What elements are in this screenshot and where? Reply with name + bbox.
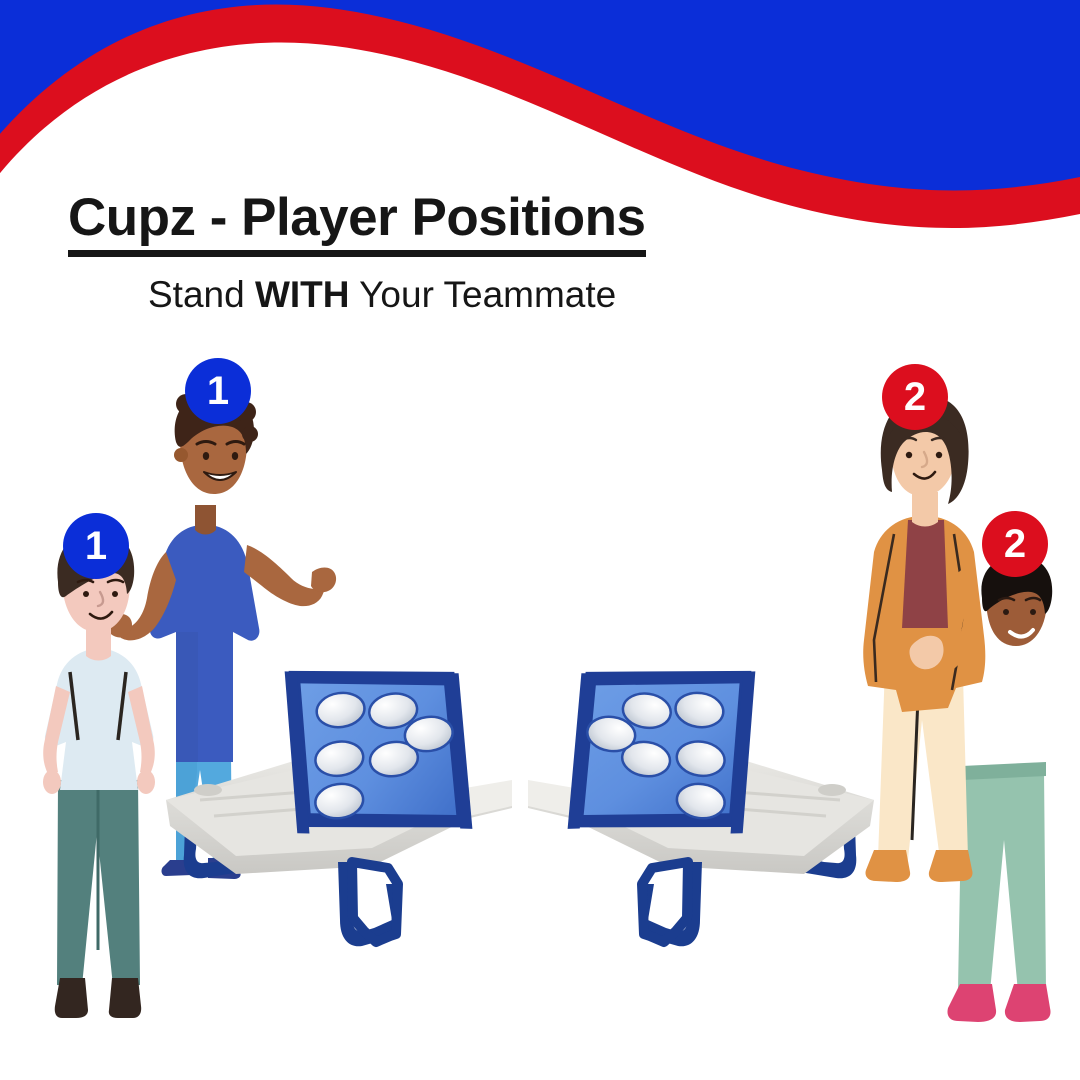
adult-right-shoe-r — [929, 850, 973, 882]
adult-right-top — [902, 520, 948, 628]
badge-label: 2 — [1004, 524, 1026, 564]
badge-team-2-child: 2 — [982, 511, 1048, 577]
child-right-shoe-l — [947, 984, 996, 1022]
adult-right-neck — [912, 492, 938, 527]
child-right-eye-l — [1003, 609, 1009, 615]
subtitle-prefix: Stand — [148, 274, 255, 315]
adult-right-shoe-l — [865, 850, 910, 882]
badge-team-1-child: 1 — [63, 513, 129, 579]
badge-team-2-adult: 2 — [882, 364, 948, 430]
cupz-board-right — [560, 647, 766, 853]
badge-label: 1 — [207, 371, 229, 411]
child-right-shoe-r — [1005, 984, 1051, 1022]
page-subtitle: Stand WITH Your Teammate — [0, 275, 1080, 316]
title-block: Cupz - Player Positions Stand WITH Your … — [0, 190, 1080, 315]
page-title-text: Cupz - Player Positions — [68, 190, 646, 257]
page-title: Cupz - Player Positions — [0, 190, 1080, 257]
table-right-top-notch — [818, 784, 846, 796]
cupz-table-right — [528, 647, 874, 946]
badge-label: 2 — [904, 377, 926, 417]
subtitle-suffix: Your Teammate — [350, 274, 617, 315]
adult-right-eye-r — [936, 452, 942, 458]
poster-canvas: Cupz - Player Positions Stand WITH Your … — [0, 0, 1080, 1080]
adult-right-eye-l — [906, 452, 912, 458]
badge-label: 1 — [85, 526, 107, 566]
child-right-pants — [958, 770, 1046, 992]
subtitle-emphasis: WITH — [255, 274, 350, 315]
badge-team-1-adult: 1 — [185, 358, 251, 424]
child-right-eye-r — [1030, 609, 1036, 615]
